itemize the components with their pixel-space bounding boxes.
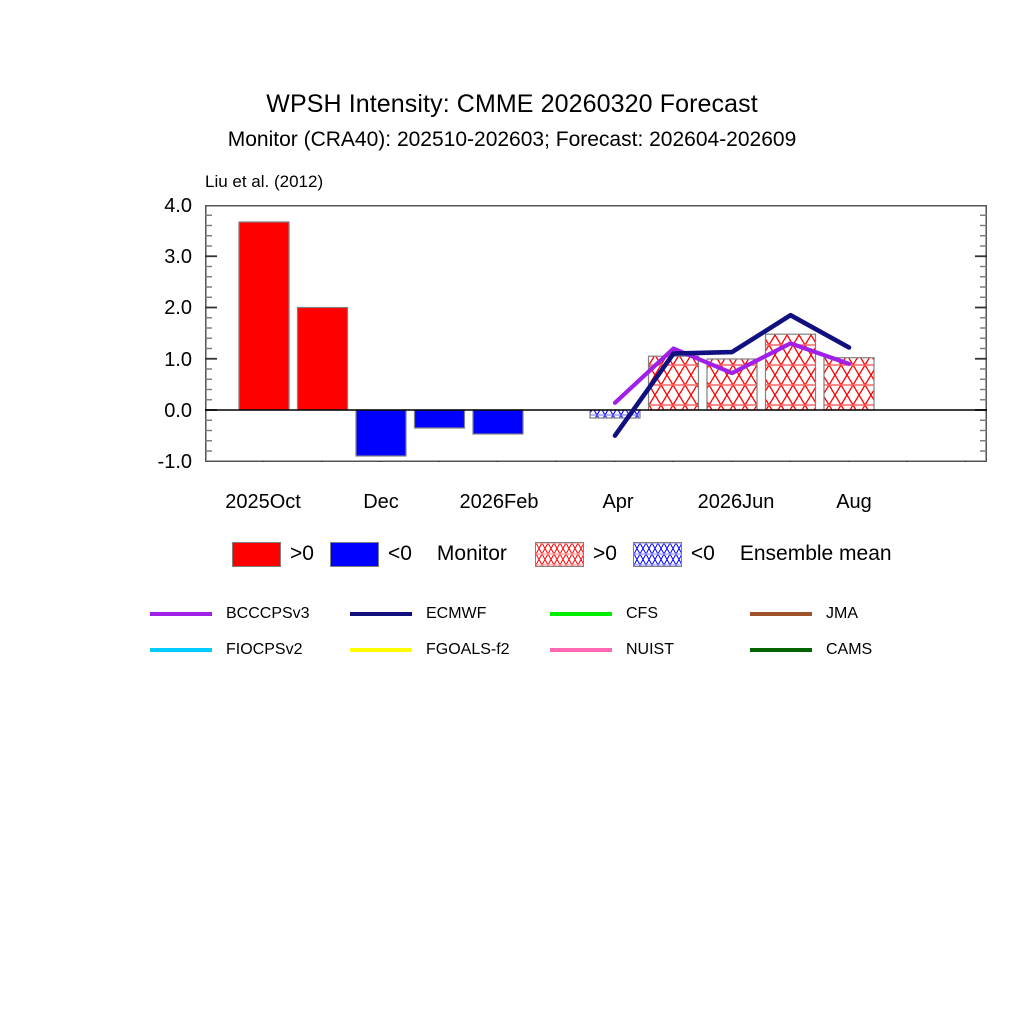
bar-monitor-2026jan xyxy=(415,410,465,428)
legend-swatch-monitor-positive xyxy=(232,542,281,567)
legend-label-monitor-positive: >0 xyxy=(290,542,314,566)
y-tick-label-0: 0.0 xyxy=(130,400,192,423)
legend-label-fiocpsv2: FIOCPSv2 xyxy=(226,641,302,659)
legend-label-ensemble-negative: <0 xyxy=(691,542,715,566)
legend-item-fiocpsv2[interactable]: FIOCPSv2 xyxy=(150,641,350,659)
legend-bar-styles: >0 <0 Monitor >0 xyxy=(232,539,908,569)
legend-swatch-ensemble-negative xyxy=(633,542,682,567)
legend-line-fiocpsv2 xyxy=(150,648,212,652)
legend-label-ensemble-mean: Ensemble mean xyxy=(740,542,892,566)
bar-monitor-nov xyxy=(298,308,348,411)
legend-line-fgoals-f2 xyxy=(350,648,412,652)
page-title: WPSH Intensity: CMME 20260320 Forecast xyxy=(0,90,1024,119)
legend-models-row-2: FIOCPSv2 FGOALS-f2 NUIST CAMS xyxy=(150,632,950,668)
plot-svg xyxy=(205,205,987,462)
legend-label-ecmwf: ECMWF xyxy=(426,605,486,623)
y-tick-label-2: 2.0 xyxy=(130,297,192,320)
ensemble-bars xyxy=(590,334,874,418)
x-tick-label-apr: Apr xyxy=(602,491,633,514)
legend-item-cams[interactable]: CAMS xyxy=(750,641,950,659)
legend-label-bcccpsv3: BCCCPSv3 xyxy=(226,605,310,623)
legend-swatch-monitor-negative xyxy=(330,542,379,567)
legend-item-cfs[interactable]: CFS xyxy=(550,605,750,623)
legend-item-bcccpsv3[interactable]: BCCCPSv3 xyxy=(150,605,350,623)
legend-label-cfs: CFS xyxy=(626,605,658,623)
y-tick-label-1: 1.0 xyxy=(130,349,192,372)
legend-line-cams xyxy=(750,648,812,652)
chart-canvas: WPSH Intensity: CMME 20260320 Forecast M… xyxy=(0,0,1024,1024)
legend-label-fgoals-f2: FGOALS-f2 xyxy=(426,641,510,659)
y-major-ticks xyxy=(205,256,217,410)
plot-area xyxy=(205,205,987,462)
x-tick-label-aug: Aug xyxy=(836,491,872,514)
y-tick-label-3: 3.0 xyxy=(130,246,192,269)
legend-item-nuist[interactable]: NUIST xyxy=(550,641,750,659)
bar-monitor-dec xyxy=(356,410,406,456)
legend-line-jma xyxy=(750,612,812,616)
hatch-blue-icon xyxy=(634,543,681,566)
y-major-ticks-right xyxy=(975,256,987,410)
monitor-bars xyxy=(239,222,523,456)
x-tick-label-2026feb: 2026Feb xyxy=(460,491,539,514)
legend-label-monitor: Monitor xyxy=(437,542,507,566)
legend-item-jma[interactable]: JMA xyxy=(750,605,950,623)
legend-label-nuist: NUIST xyxy=(626,641,674,659)
bar-monitor-2025oct xyxy=(239,222,289,410)
x-tick-label-2025oct: 2025Oct xyxy=(225,491,301,514)
y-tick-label-neg1: -1.0 xyxy=(130,451,192,474)
hatch-red-icon xyxy=(536,543,583,566)
chart-subtitle: Monitor (CRA40): 202510-202603; Forecast… xyxy=(0,128,1024,152)
legend-label-monitor-negative: <0 xyxy=(388,542,412,566)
x-tick-label-dec: Dec xyxy=(363,491,399,514)
x-tick-label-2026jun: 2026Jun xyxy=(698,491,775,514)
legend-line-nuist xyxy=(550,648,612,652)
legend-line-bcccpsv3 xyxy=(150,612,212,616)
legend-item-fgoals-f2[interactable]: FGOALS-f2 xyxy=(350,641,550,659)
y-tick-label-4: 4.0 xyxy=(130,195,192,218)
legend-label-ensemble-positive: >0 xyxy=(593,542,617,566)
legend-models: BCCCPSv3 ECMWF CFS JMA FIOCPSv2 FGO xyxy=(150,596,950,668)
legend-label-cams: CAMS xyxy=(826,641,872,659)
bar-monitor-2026feb xyxy=(473,410,523,434)
chart-reference-note: Liu et al. (2012) xyxy=(205,172,323,192)
legend-item-ecmwf[interactable]: ECMWF xyxy=(350,605,550,623)
legend-models-row-1: BCCCPSv3 ECMWF CFS JMA xyxy=(150,596,950,632)
legend-swatch-ensemble-positive xyxy=(535,542,584,567)
legend-line-cfs xyxy=(550,612,612,616)
legend-label-jma: JMA xyxy=(826,605,858,623)
legend-line-ecmwf xyxy=(350,612,412,616)
